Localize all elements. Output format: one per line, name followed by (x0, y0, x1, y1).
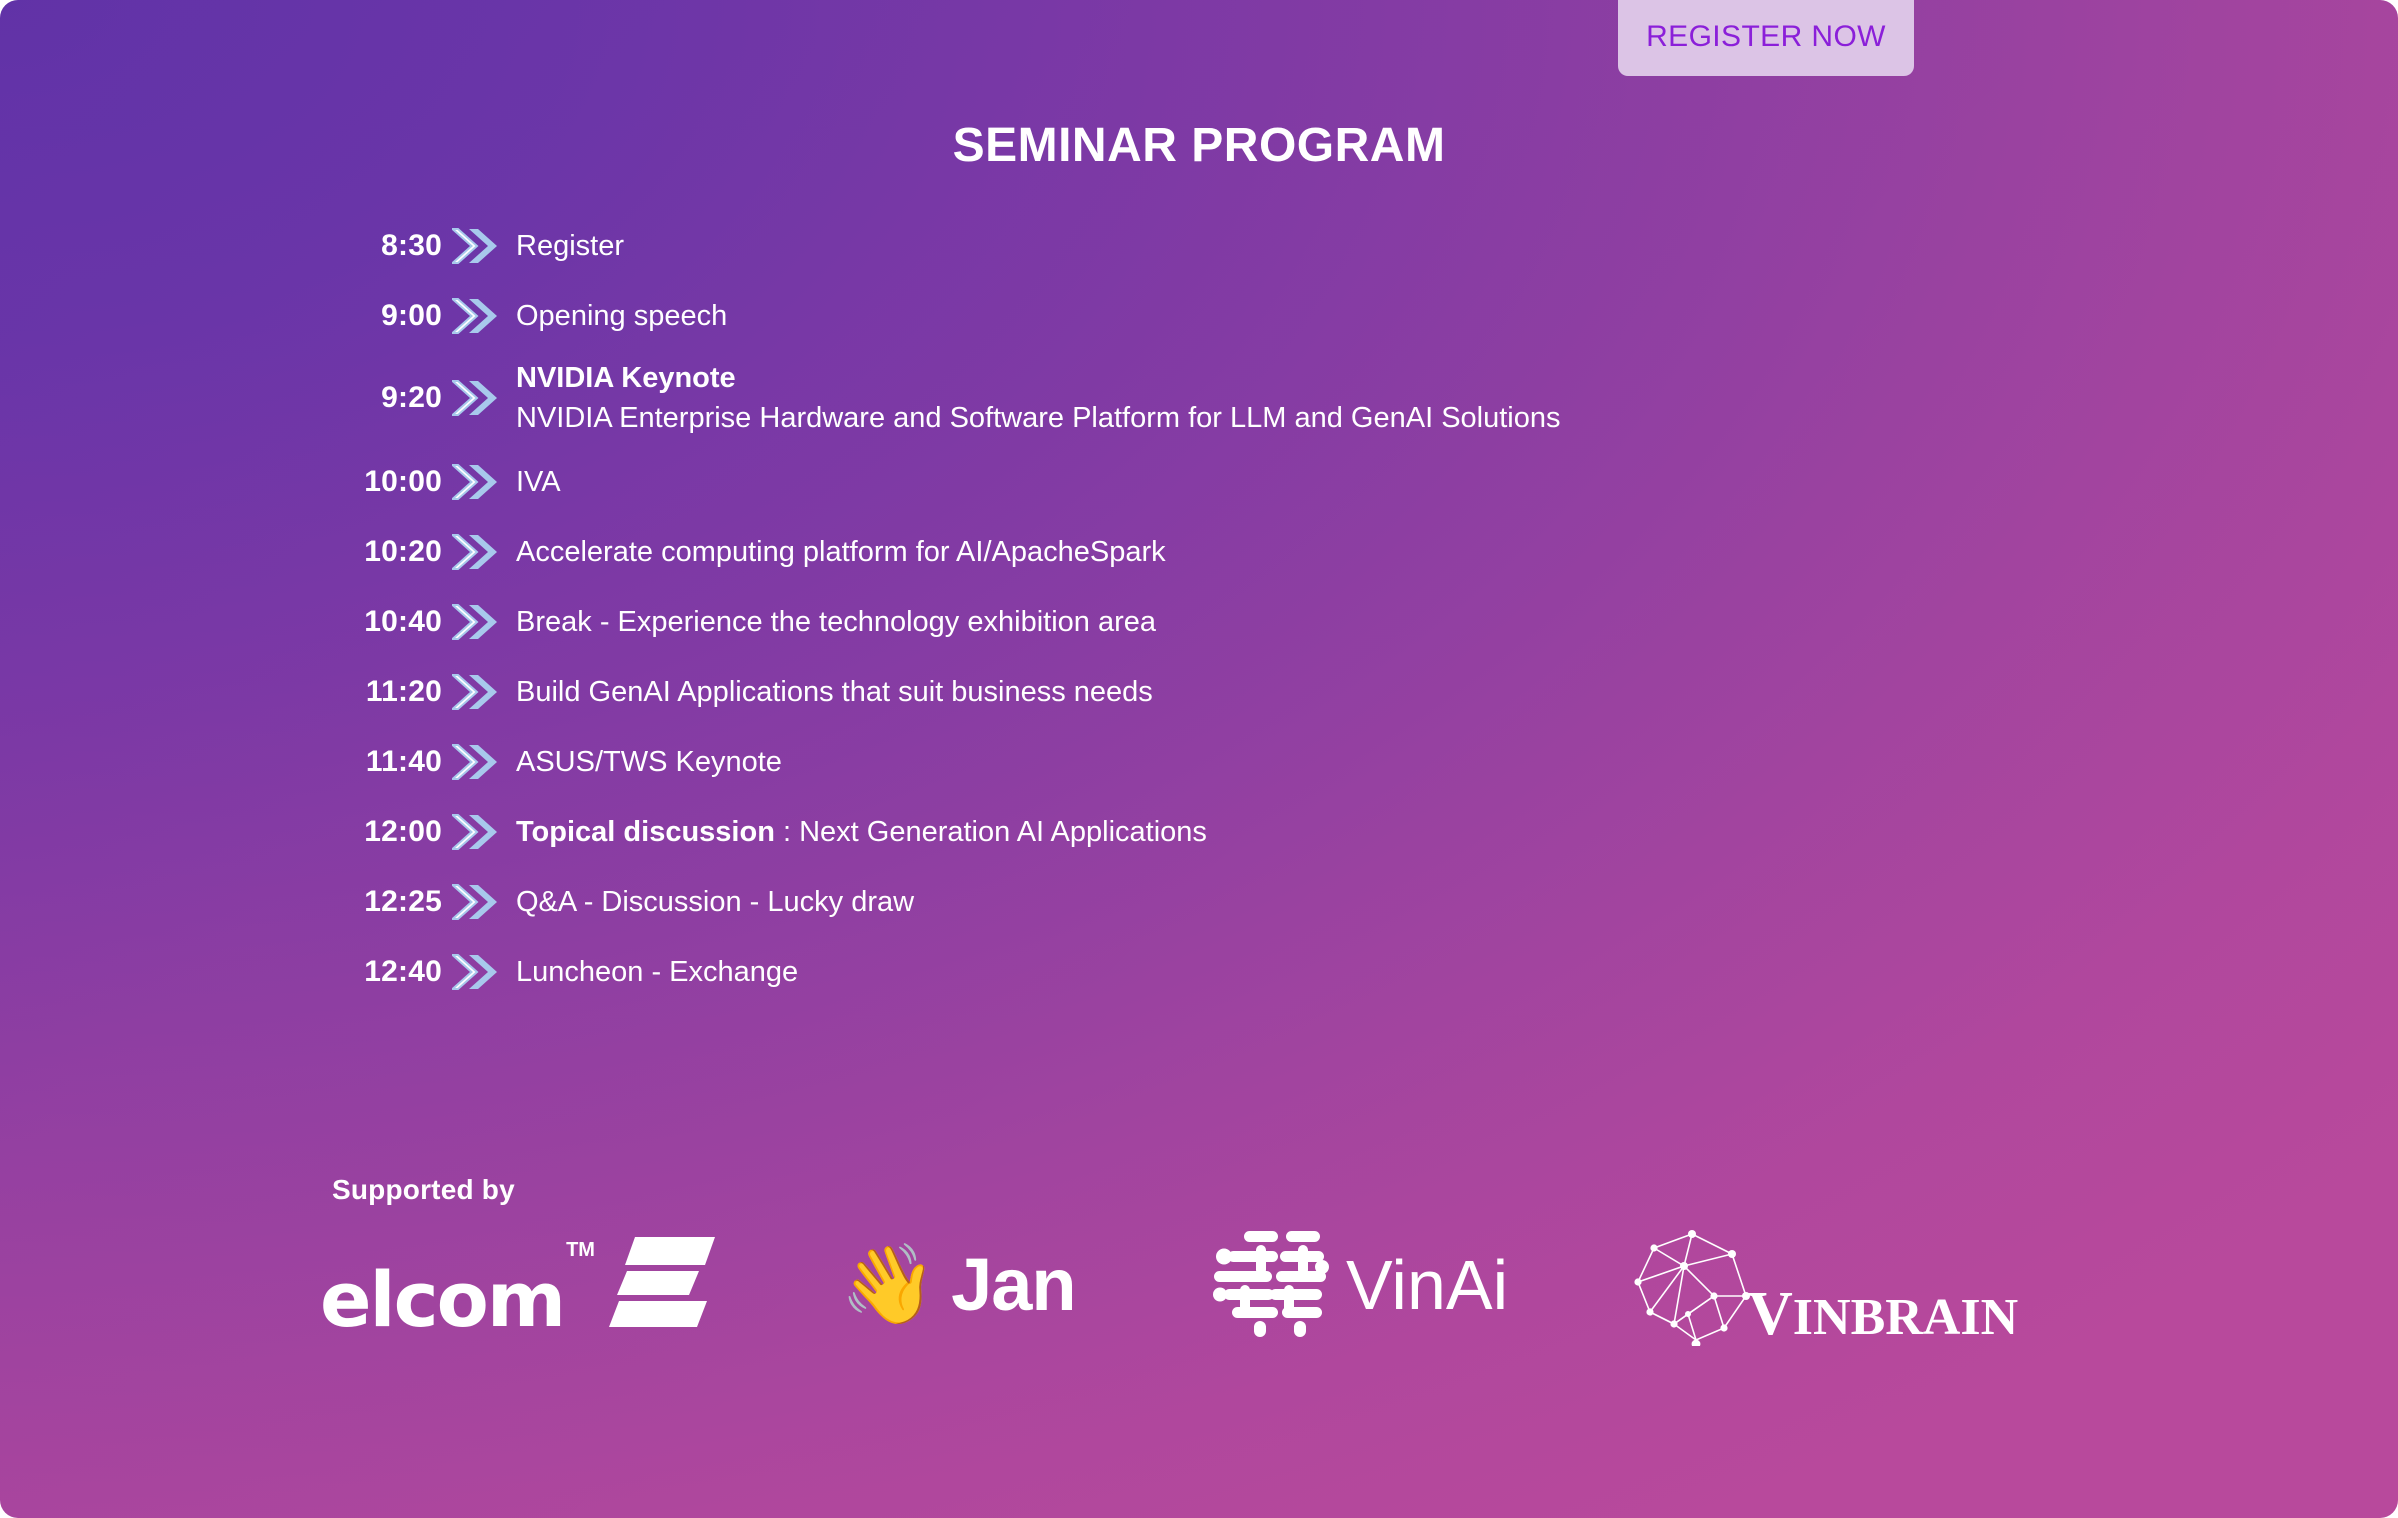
schedule-row: 10:20 Accelerate computing platform for … (332, 524, 2032, 580)
schedule-row: 10:00 IVA (332, 454, 2032, 510)
schedule-row-time: 10:40 (332, 605, 442, 639)
schedule-row-time: 8:30 (332, 229, 442, 263)
sponsor-logo-vinai: VinAi (1150, 1225, 1600, 1345)
schedule-row-title: Build GenAI Applications that suit busin… (516, 676, 1153, 708)
schedule-row-description: Register (508, 226, 2032, 266)
elcom-trademark-symbol: TM (566, 1239, 595, 1262)
sponsor-logo-vinbrain: VINBRAIN (1600, 1225, 2040, 1345)
vinbrain-wordmark-cap: V (1748, 1280, 1793, 1348)
schedule-row-time: 10:20 (332, 535, 442, 569)
double-chevron-icon (442, 296, 508, 336)
schedule-row-title: ASUS/TWS Keynote (516, 746, 782, 778)
schedule-row-title: Luncheon - Exchange (516, 956, 798, 988)
vinbrain-brain-network-icon (1620, 1220, 1766, 1351)
schedule-row: 11:20 Build GenAI Applications that suit… (332, 664, 2032, 720)
sponsor-logo-jan: 👋 Jan (730, 1225, 1150, 1345)
schedule-row-title: Register (516, 230, 624, 262)
schedule-row-time: 11:20 (332, 675, 442, 709)
double-chevron-icon (442, 812, 508, 852)
register-now-button[interactable]: REGISTER NOW (1618, 0, 1914, 76)
schedule-row-title: Opening speech (516, 300, 727, 332)
schedule-row-title: NVIDIA Keynote (516, 362, 736, 394)
schedule-row-time: 12:00 (332, 815, 442, 849)
schedule-row-description: IVA (508, 462, 2032, 502)
seminar-program-slide: REGISTER NOW SEMINAR PROGRAM 8:30 Regist… (0, 0, 2398, 1518)
schedule-row-title-trailing: : Next Generation AI Applications (775, 816, 1207, 848)
schedule-row-title: Topical discussion (516, 816, 775, 848)
schedule-row-time: 12:40 (332, 955, 442, 989)
double-chevron-icon (442, 462, 508, 502)
elcom-wordmark: elcom (320, 1262, 564, 1338)
sponsor-logos: elcom TM 👋 Jan (310, 1215, 2110, 1355)
schedule-row: 11:40 ASUS/TWS Keynote (332, 734, 2032, 790)
schedule-row-time: 9:00 (332, 299, 442, 333)
schedule-row: 12:25 Q&A - Discussion - Lucky draw (332, 874, 2032, 930)
schedule-row-title: Q&A - Discussion - Lucky draw (516, 886, 914, 918)
double-chevron-icon (442, 378, 508, 418)
schedule-row: 9:20 NVIDIA KeynoteNVIDIA Enterprise Har… (332, 358, 2032, 438)
double-chevron-icon (442, 952, 508, 992)
vinai-circuit-mark-icon (1210, 1227, 1330, 1344)
schedule-row-title: Break - Experience the technology exhibi… (516, 606, 1156, 638)
schedule-row-description: ASUS/TWS Keynote (508, 742, 2032, 782)
double-chevron-icon (442, 532, 508, 572)
schedule-row: 10:40 Break - Experience the technology … (332, 594, 2032, 650)
schedule-row-description: Topical discussion : Next Generation AI … (508, 812, 2032, 852)
sponsor-logo-elcom: elcom TM (310, 1225, 730, 1345)
schedule-row-title: Accelerate computing platform for AI/Apa… (516, 536, 1166, 568)
schedule-row-time: 10:00 (332, 465, 442, 499)
schedule-row-time: 9:20 (332, 381, 442, 415)
schedule-row-time: 11:40 (332, 745, 442, 779)
schedule-row-description: Opening speech (508, 296, 2032, 336)
schedule-row-description: Build GenAI Applications that suit busin… (508, 672, 2032, 712)
supported-by-label: Supported by (332, 1174, 515, 1206)
schedule-row: 12:40 Luncheon - Exchange (332, 944, 2032, 1000)
double-chevron-icon (442, 672, 508, 712)
schedule-row-description: Accelerate computing platform for AI/Apa… (508, 532, 2032, 572)
schedule-row-subtitle: NVIDIA Enterprise Hardware and Software … (516, 398, 2032, 438)
double-chevron-icon (442, 226, 508, 266)
vinbrain-wordmark: VINBRAIN (1748, 1283, 2018, 1345)
schedule-list: 8:30 Register9:00 Opening speech9:20 NVI… (332, 218, 2032, 1014)
schedule-row-description: NVIDIA KeynoteNVIDIA Enterprise Hardware… (508, 358, 2032, 438)
double-chevron-icon (442, 602, 508, 642)
schedule-row-description: Break - Experience the technology exhibi… (508, 602, 2032, 642)
page-title: SEMINAR PROGRAM (0, 118, 2398, 173)
schedule-row: 9:00 Opening speech (332, 288, 2032, 344)
elcom-e-mark-icon (609, 1233, 715, 1334)
double-chevron-icon (442, 742, 508, 782)
schedule-row-description: Luncheon - Exchange (508, 952, 2032, 992)
double-chevron-icon (442, 882, 508, 922)
schedule-row-time: 12:25 (332, 885, 442, 919)
schedule-row: 12:00 Topical discussion : Next Generati… (332, 804, 2032, 860)
jan-wordmark: Jan (951, 1248, 1076, 1322)
schedule-row: 8:30 Register (332, 218, 2032, 274)
vinbrain-wordmark-rest: INBRAIN (1793, 1289, 2018, 1346)
waving-hand-icon: 👋 (840, 1246, 937, 1324)
vinai-wordmark: VinAi (1346, 1250, 1508, 1320)
schedule-row-description: Q&A - Discussion - Lucky draw (508, 882, 2032, 922)
schedule-row-title: IVA (516, 466, 561, 498)
